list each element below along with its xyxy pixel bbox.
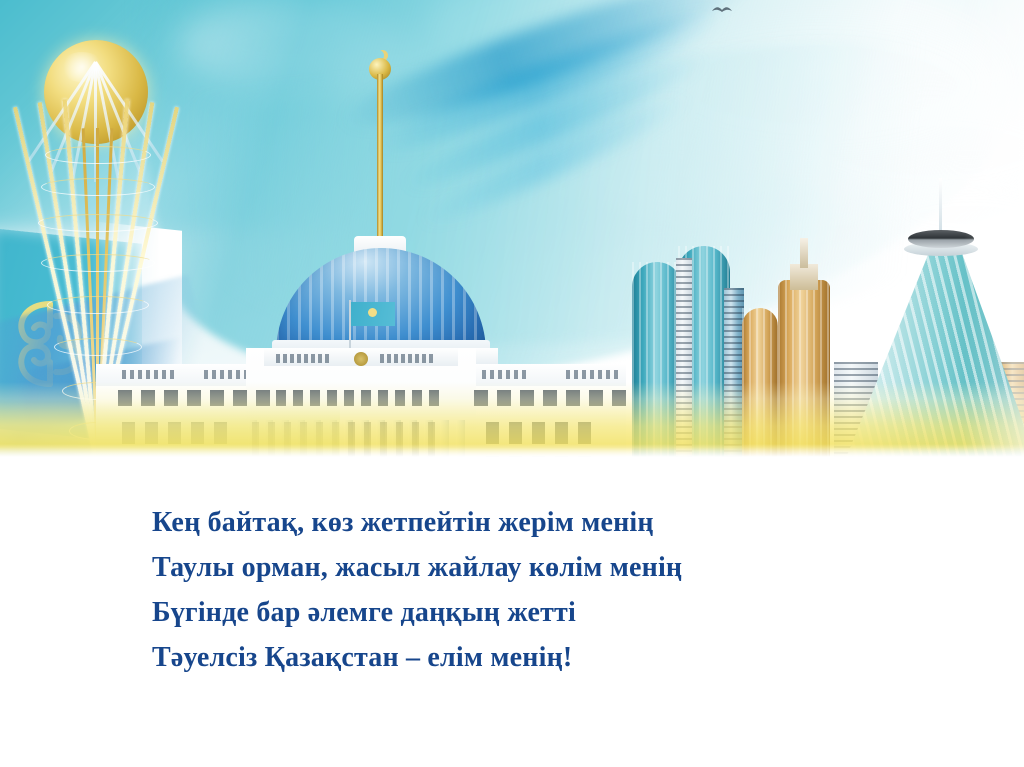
tower-mast <box>800 238 808 268</box>
khan-shatyr-spire <box>939 178 942 236</box>
banner-right-fade <box>964 0 1024 458</box>
pediment-window-row <box>380 354 433 363</box>
pediment-window-row <box>276 354 329 363</box>
attic-window-row <box>566 370 618 379</box>
presentation-slide: Кең байтақ, көз жетпейтін жерім менің Та… <box>0 0 1024 767</box>
attic-window-row <box>204 370 248 379</box>
banner-bottom-fade <box>0 444 1024 458</box>
attic-window-row <box>482 370 526 379</box>
poem-line-1: Кең байтақ, көз жетпейтін жерім менің <box>152 500 1024 545</box>
flag-sun-icon <box>368 308 377 317</box>
golden-spire <box>377 74 383 242</box>
poem-line-3: Бүгінде бар әлемге даңқың жетті <box>152 590 1024 635</box>
astana-skyline-banner <box>0 0 1024 458</box>
state-emblem-icon <box>354 352 368 366</box>
poem-line-4: Тәуелсіз Қазақстан – елім менің! <box>152 635 1024 680</box>
attic-window-row <box>122 370 174 379</box>
poem-line-2: Таулы орман, жасыл жайлау көлім менің <box>152 545 1024 590</box>
kazakh-poem: Кең байтақ, көз жетпейтін жерім менің Та… <box>0 500 1024 680</box>
bird-icon <box>711 4 733 14</box>
